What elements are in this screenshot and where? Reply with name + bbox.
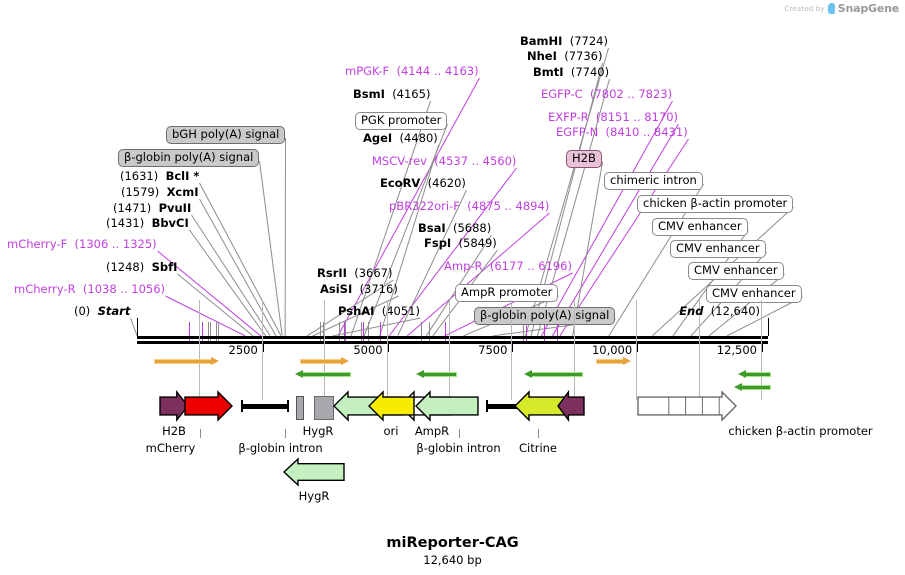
enzyme-name: AsiSI [320, 282, 352, 296]
enzyme-name: mCherry-F [7, 237, 67, 251]
enzyme-name: AgeI [363, 131, 392, 145]
ruler-tick-label: 12,500 [717, 343, 757, 357]
enzyme-label-xcmi[interactable]: (1579) XcmI [121, 186, 199, 198]
primer-label-egfp-n[interactable]: EGFP-N (8410 .. 8431) [556, 126, 688, 138]
feature-arrow-chicken-beta-actin-promoter[interactable] [638, 392, 736, 422]
grid-line [262, 300, 263, 400]
primer-label-amp-r[interactable]: Amp-R (6177 .. 6196) [444, 260, 572, 272]
primer-arrow-reverse[interactable] [295, 370, 350, 379]
feature-chip-ampr-promoter[interactable]: AmpR promoter [455, 284, 558, 302]
enzyme-position: (4144 .. 4163) [396, 64, 478, 78]
enzyme-position: (8151 .. 8170) [596, 110, 678, 124]
feature-arrow-hygr-2[interactable] [284, 459, 344, 489]
feature-chip-h2b[interactable]: H2B [566, 150, 602, 168]
created-by-text: Created by [784, 5, 825, 13]
grid-line [324, 300, 325, 400]
enzyme-label-bcli[interactable]: (1631) BclI * [120, 170, 199, 182]
enzyme-name: PvuII [159, 201, 192, 215]
enzyme-label-bmti[interactable]: BmtI (7740) [533, 66, 609, 78]
enzyme-name: mCherry-R [14, 282, 76, 296]
feature-arrow-ori[interactable] [369, 392, 414, 422]
primer-arrow-forward[interactable] [155, 357, 219, 366]
primer-label-mpgk-f[interactable]: mPGK-F (4144 .. 4163) [345, 65, 479, 77]
snapgene-logo-icon [827, 3, 835, 14]
enzyme-label-asisi[interactable]: AsiSI (3716) [320, 283, 398, 295]
enzyme-position: (4480) [400, 131, 438, 145]
feature-arrow-ampr[interactable] [416, 392, 478, 422]
ruler-end-label: End (12,640) [679, 305, 760, 317]
enzyme-label-fspi[interactable]: FspI (5849) [424, 237, 497, 249]
feature-caption-ampr: AmpR [405, 424, 459, 438]
ruler-tick-label: 5000 [353, 343, 382, 357]
enzyme-position: (3716) [360, 282, 398, 296]
primer-arrow-reverse[interactable] [738, 370, 770, 379]
feature-chip-bgh-poly-a-signal[interactable]: bGH poly(A) signal [166, 126, 285, 144]
enzyme-label-bsmi[interactable]: BsmI (4165) [353, 88, 430, 100]
enzyme-position: (5849) [459, 236, 497, 250]
enzyme-label-rsrii[interactable]: RsrII (3667) [317, 267, 393, 279]
enzyme-label-nhei[interactable]: NheI (7736) [527, 50, 602, 62]
enzyme-label-sbfi[interactable]: (1248) SbfI [106, 261, 177, 273]
enzyme-position: (4537 .. 4560) [434, 154, 516, 168]
enzyme-name: NheI [527, 49, 557, 63]
feature-caption-citrine: Citrine [512, 441, 564, 455]
feature-chip-pgk-promoter[interactable]: PGK promoter [355, 112, 447, 130]
enzyme-position: (7724) [570, 34, 608, 48]
enzyme-name: mPGK-F [345, 64, 389, 78]
plasmid-title: miReporter-CAG [0, 535, 905, 551]
feature-chip-cmv-enhancer[interactable]: CMV enhancer [706, 285, 802, 303]
primer-arrow-forward[interactable] [597, 357, 631, 366]
enzyme-position: (7802 .. 7823) [590, 87, 672, 101]
enzyme-label-pshai[interactable]: PshAI (4051) [338, 305, 420, 317]
feature-caption-beta-globin-intron-2: β-globin intron [406, 441, 511, 455]
primer-arrow-reverse[interactable] [524, 370, 582, 379]
ruler-start-cap [137, 318, 138, 336]
caption-leader-line [200, 429, 201, 438]
enzyme-name: SbfI [152, 260, 178, 274]
enzyme-position: (1631) [120, 169, 158, 183]
hygr-secondary-feature: HygR [284, 459, 344, 485]
feature-caption-beta-globin-intron: β-globin intron [228, 441, 333, 455]
enzyme-name: BsaI [418, 221, 446, 235]
enzyme-position: (1471) [113, 201, 151, 215]
enzyme-position: (6177 .. 6196) [490, 259, 572, 273]
enzyme-label-bsai[interactable]: BsaI (5688) [418, 222, 491, 234]
enzyme-label-bamhi[interactable]: BamHI (7724) [520, 35, 608, 47]
primer-label-egfp-c[interactable]: EGFP-C (7802 .. 7823) [541, 88, 672, 100]
caption-leader-line [285, 429, 286, 438]
feature-chip-chicken-actin-promoter[interactable]: chicken β-actin promoter [637, 195, 793, 213]
feature-beta-globin-intron[interactable] [241, 400, 289, 412]
enzyme-name: pBR322ori-F [389, 199, 460, 213]
grid-line [199, 300, 200, 400]
enzyme-name: BmtI [533, 65, 564, 79]
snapgene-brand-text: SnapGene [838, 2, 899, 15]
enzyme-position: (1431) [106, 216, 144, 230]
enzyme-name: BsmI [353, 87, 385, 101]
feature-chip-cmv-enhancer[interactable]: CMV enhancer [670, 240, 766, 258]
primer-label-exfp-r[interactable]: EXFP-R (8151 .. 8170) [548, 111, 678, 123]
enzyme-name: EXFP-R [548, 110, 589, 124]
enzyme-name: BamHI [520, 34, 562, 48]
feature-arrow-mcherry[interactable] [185, 392, 232, 422]
caption-leader-line [459, 429, 460, 438]
connector-line [189, 230, 266, 337]
enzyme-label-bbvci[interactable]: (1431) BbvCI [106, 217, 189, 229]
enzyme-label-agei[interactable]: AgeI (4480) [363, 132, 438, 144]
feature-chip-cmv-enhancer[interactable]: CMV enhancer [688, 262, 784, 280]
enzyme-name: Amp-R [444, 259, 483, 273]
feature-chip-globin-poly-a-signal[interactable]: β-globin poly(A) signal [474, 307, 615, 325]
enzyme-position: (4165) [392, 87, 430, 101]
enzyme-position: (7736) [564, 49, 602, 63]
connector-line [259, 161, 283, 336]
ruler-end-cap [768, 318, 769, 336]
feature-arrow-h2b[interactable] [160, 392, 188, 422]
enzyme-name: Start [98, 304, 131, 318]
enzyme-position: (4875 .. 4894) [467, 199, 549, 213]
enzyme-position: (3667) [354, 266, 392, 280]
feature-chip-globin-poly-a-signal[interactable]: β-globin poly(A) signal [118, 149, 259, 167]
caption-leader-line [538, 429, 539, 438]
enzyme-position: (7740) [571, 65, 609, 79]
connector-line [285, 138, 286, 336]
enzyme-position: (5688) [453, 221, 491, 235]
primer-label-pbr322ori-f[interactable]: pBR322ori-F (4875 .. 4894) [389, 200, 549, 212]
enzyme-position: (0) [74, 304, 90, 318]
enzyme-name: EGFP-N [556, 125, 598, 139]
enzyme-position: (1038 .. 1056) [83, 282, 165, 296]
feature-chip-cmv-enhancer[interactable]: CMV enhancer [652, 218, 748, 236]
feature-caption-mcherry: mCherry [138, 441, 203, 455]
feature-caption-hygr-2: HygR [284, 489, 344, 503]
primer-label-mscv-rev[interactable]: MSCV-rev (4537 .. 4560) [372, 155, 516, 167]
enzyme-name: EGFP-C [541, 87, 583, 101]
snapgene-watermark: Created by SnapGene [784, 2, 899, 15]
grid-line [449, 300, 450, 400]
enzyme-label-start[interactable]: (0) Start [74, 305, 130, 317]
grid-line [511, 300, 512, 400]
grid-line [387, 300, 388, 400]
grid-line [636, 300, 637, 400]
enzyme-name: PshAI [338, 304, 374, 318]
enzyme-position: (1579) [121, 185, 159, 199]
feature-caption-ori: ori [374, 424, 408, 438]
connector-line [165, 296, 245, 337]
grid-line [574, 300, 575, 400]
enzyme-position: (4620) [428, 176, 466, 190]
ruler-tick-label: 7500 [478, 343, 507, 357]
enzyme-position: (1306 .. 1325) [75, 237, 157, 251]
feature-gray-box-1[interactable] [314, 396, 334, 420]
feature-caption-chicken-beta-actin-promoter: chicken β-actin promoter [718, 424, 883, 438]
enzyme-name: FspI [424, 236, 451, 250]
primer-label-mcherry-r[interactable]: mCherry-R (1038 .. 1056) [14, 283, 165, 295]
feature-caption-h2b: H2B [150, 424, 198, 438]
enzyme-name: XcmI [167, 185, 199, 199]
feature-small-bar-1[interactable] [296, 396, 304, 420]
primer-arrow-reverse[interactable] [734, 383, 770, 392]
primer-label-mcherry-f[interactable]: mCherry-F (1306 .. 1325) [7, 238, 157, 250]
plasmid-size: 12,640 bp [0, 553, 905, 567]
enzyme-name: MSCV-rev [372, 154, 427, 168]
ruler-tick-label: 10,000 [592, 343, 632, 357]
enzyme-name: RsrII [317, 266, 347, 280]
primer-arrow-forward[interactable] [301, 357, 349, 366]
enzyme-position: (1248) [106, 260, 144, 274]
enzyme-name: BbvCI [152, 216, 189, 230]
ruler-tick-label: 2500 [229, 343, 258, 357]
feature-chip-chimeric-intron[interactable]: chimeric intron [604, 172, 703, 190]
enzyme-position: (8410 .. 8431) [606, 125, 688, 139]
feature-caption-hygr: HygR [288, 424, 348, 438]
enzyme-name: EcoRV [380, 176, 420, 190]
enzyme-name: BclI * [166, 169, 200, 183]
primer-arrow-reverse[interactable] [416, 370, 456, 379]
enzyme-label-pvuii[interactable]: (1471) PvuII [113, 202, 191, 214]
feature-arrow-h2b-2[interactable] [558, 392, 584, 422]
enzyme-label-ecorv[interactable]: EcoRV (4620) [380, 177, 466, 189]
